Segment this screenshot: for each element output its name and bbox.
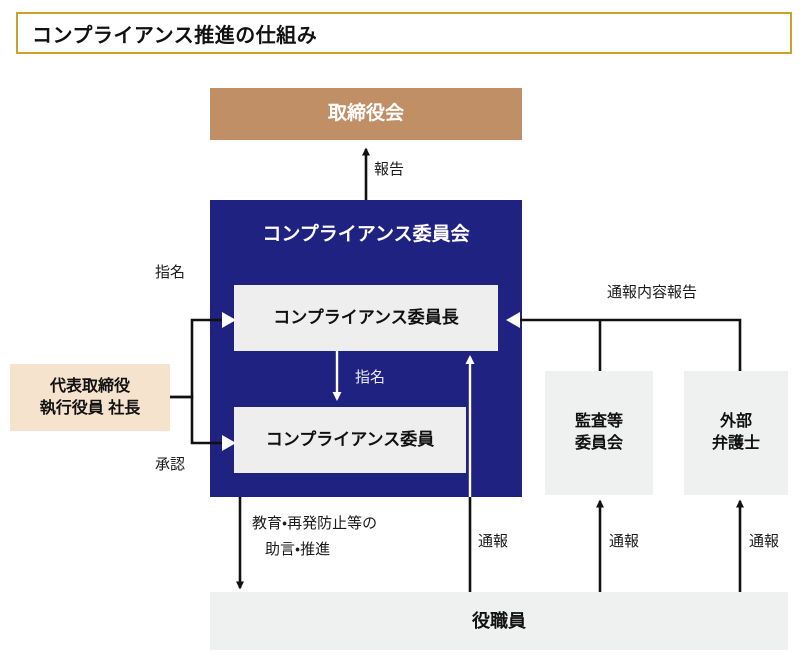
node-board-of-directors-label: 取締役会 (328, 101, 404, 127)
node-president: 代表取締役 執行役員 社長 (10, 364, 170, 431)
compliance-diagram: コンプライアンス推進の仕組み 取締役会 コンプライアンス委員会 コンプライアンス… (0, 0, 808, 661)
node-employees-label: 役職員 (472, 609, 526, 633)
node-audit-committee: 監査等 委員会 (545, 371, 653, 495)
edge-label-whistleblow-lawyer: 通報 (749, 532, 779, 552)
node-employees: 役職員 (210, 592, 788, 650)
node-compliance-member-label: コンプライアンス委員 (266, 429, 434, 452)
edge-label-report-to-board: 報告 (374, 160, 404, 180)
node-board-of-directors: 取締役会 (210, 88, 522, 140)
edge-label-education-line1: 教育・再発防止等の (252, 514, 377, 534)
edge-label-education-line2: 助言・推進 (265, 540, 330, 560)
edge-label-appoint-member-inner: 指名 (355, 368, 385, 388)
edge-label-whistleblow-committee: 通報 (478, 532, 508, 552)
node-audit-committee-label-line2: 委員会 (575, 433, 623, 455)
node-audit-committee-label-line1: 監査等 (575, 411, 623, 433)
edge-label-whistleblow-audit: 通報 (609, 532, 639, 552)
edge-label-report-contents: 通報内容報告 (607, 283, 697, 303)
node-compliance-chair-label: コンプライアンス委員長 (273, 307, 458, 330)
node-compliance-member: コンプライアンス委員 (234, 407, 466, 473)
edge-label-approve-member: 承認 (155, 455, 185, 475)
node-compliance-chair: コンプライアンス委員長 (234, 285, 498, 351)
diagram-title: コンプライアンス推進の仕組み (18, 19, 317, 48)
node-external-lawyer: 外部 弁護士 (684, 371, 788, 495)
node-compliance-committee-label: コンプライアンス委員会 (210, 222, 522, 248)
edge-report-contents-trunk (516, 320, 740, 371)
node-president-label-line2: 執行役員 社長 (40, 398, 140, 420)
node-external-lawyer-label-line2: 弁護士 (712, 433, 760, 455)
node-president-label-line1: 代表取締役 (50, 376, 130, 398)
diagram-title-box: コンプライアンス推進の仕組み (16, 12, 792, 54)
node-external-lawyer-label-line1: 外部 (720, 411, 752, 433)
edge-label-appoint-chair: 指名 (155, 263, 185, 283)
